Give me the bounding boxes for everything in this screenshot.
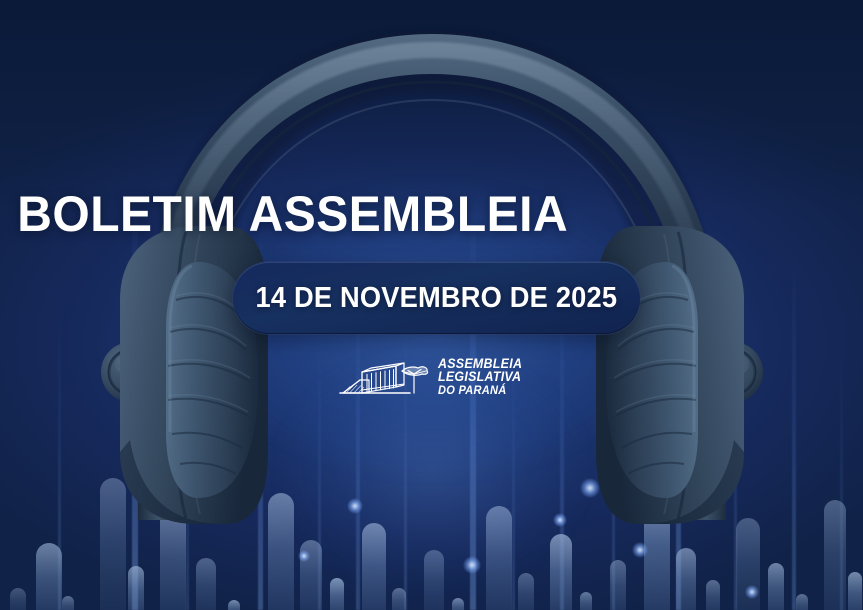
logo-line-3: DO PARANÁ <box>438 384 522 396</box>
date-badge: 14 DE NOVEMBRO DE 2025 <box>233 262 640 334</box>
assembleia-legislativa-logo: ASSEMBLEIA LEGISLATIVA DO PARANÁ <box>338 352 530 400</box>
page-title: BOLETIM ASSEMBLEIA <box>17 185 845 243</box>
headphone-left-side <box>101 226 268 524</box>
date-badge-label: 14 DE NOVEMBRO DE 2025 <box>256 282 618 315</box>
logo-line-1: ASSEMBLEIA <box>438 357 522 371</box>
boletim-assembleia-poster: BOLETIM ASSEMBLEIA 14 DE NOVEMBRO DE 202… <box>0 0 863 610</box>
logo-line-2: LEGISLATIVA <box>438 370 522 384</box>
logo-wordmark: ASSEMBLEIA LEGISLATIVA DO PARANÁ <box>438 357 522 396</box>
assembleia-building-tree-icon <box>338 354 430 398</box>
